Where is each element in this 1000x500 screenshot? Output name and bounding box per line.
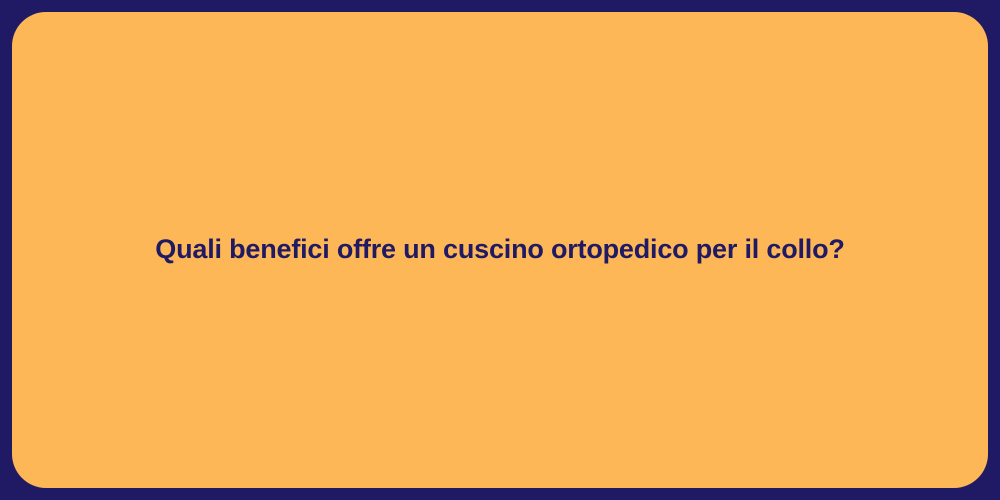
page-title: Quali benefici offre un cuscino ortopedi…	[155, 233, 844, 267]
hero-card: Quali benefici offre un cuscino ortopedi…	[12, 12, 988, 488]
page-frame: Quali benefici offre un cuscino ortopedi…	[0, 0, 1000, 500]
